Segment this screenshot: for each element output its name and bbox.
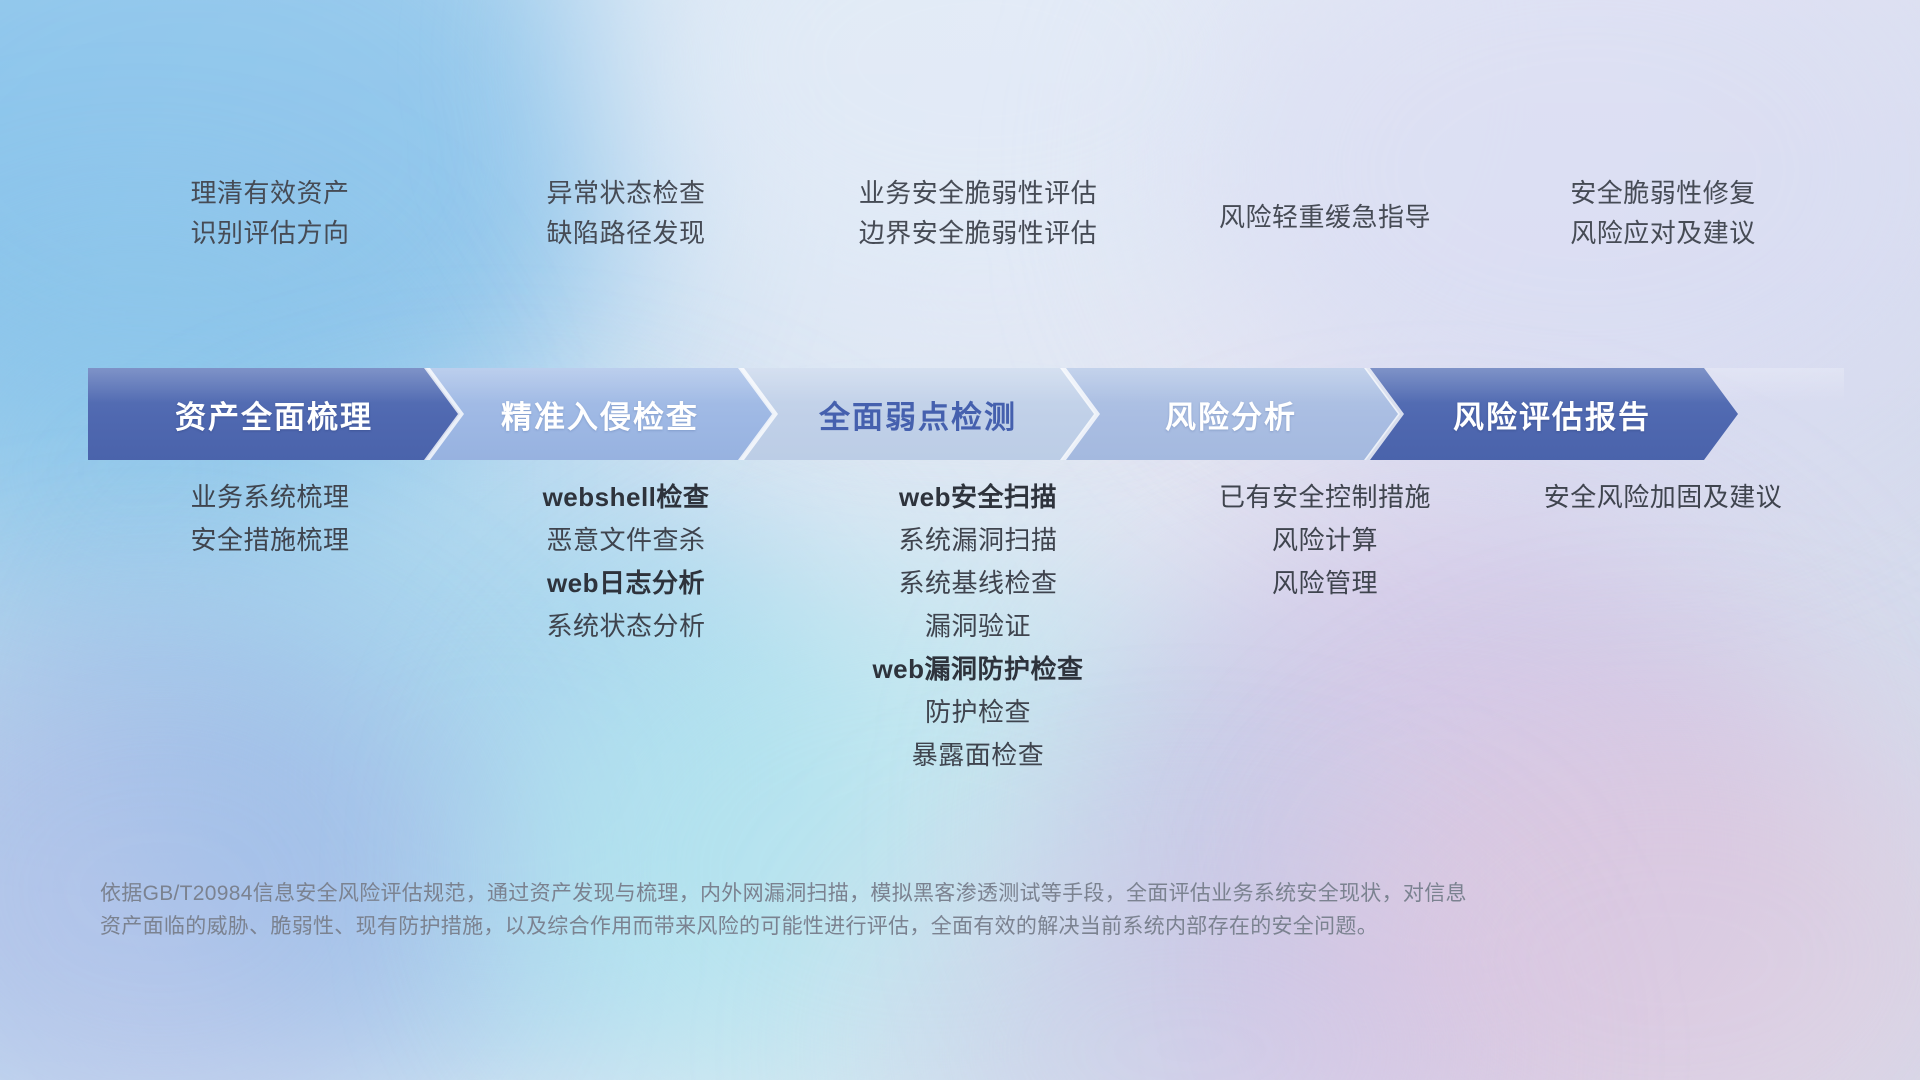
list-item: webshell检查 — [543, 484, 710, 510]
list-item: 防护检查 — [925, 699, 1031, 725]
process-step-label: 精准入侵检查 — [501, 392, 699, 437]
detail-list-5: 安全风险加固及建议 — [1494, 484, 1832, 510]
slide-canvas: 理清有效资产 识别评估方向 异常状态检查 缺陷路径发现 业务安全脆弱性评估 边界… — [0, 0, 1920, 1080]
detail-list-2: webshell检查 恶意文件查杀 web日志分析 系统状态分析 — [452, 484, 800, 639]
footer-description: 依据GB/T20984信息安全风险评估规范，通过资产发现与梳理，内外网漏洞扫描，… — [100, 878, 1640, 943]
list-item: 风险管理 — [1272, 570, 1378, 596]
top-caption-line: 识别评估方向 — [190, 220, 349, 246]
list-item: 恶意文件查杀 — [546, 527, 705, 553]
detail-lists-row: 业务系统梳理 安全措施梳理 webshell检查 恶意文件查杀 web日志分析 … — [88, 484, 1832, 768]
list-item: web日志分析 — [547, 570, 705, 596]
top-caption-group-5: 安全脆弱性修复 风险应对及建议 — [1494, 180, 1832, 246]
footer-line-1: 依据GB/T20984信息安全风险评估规范，通过资产发现与梳理，内外网漏洞扫描，… — [100, 878, 1640, 911]
list-item: 安全风险加固及建议 — [1544, 484, 1783, 510]
top-caption-group-4: 风险轻重缓急指导 — [1156, 180, 1494, 230]
process-step-label: 风险评估报告 — [1453, 392, 1651, 437]
footer-line-2: 资产面临的威胁、脆弱性、现有防护措施，以及综合作用而带来风险的可能性进行评估，全… — [100, 911, 1640, 944]
list-item: 系统基线检查 — [898, 570, 1057, 596]
detail-list-4: 已有安全控制措施 风险计算 风险管理 — [1156, 484, 1494, 596]
list-item: 安全措施梳理 — [190, 527, 349, 553]
process-step-5[interactable]: 风险评估报告 — [1366, 368, 1738, 460]
top-caption-line: 业务安全脆弱性评估 — [859, 180, 1098, 206]
process-step-label: 风险分析 — [1165, 392, 1297, 437]
top-caption-line: 异常状态检查 — [546, 180, 705, 206]
list-item: 系统漏洞扫描 — [898, 527, 1057, 553]
process-step-label: 资产全面梳理 — [175, 392, 373, 437]
top-caption-line: 缺陷路径发现 — [546, 220, 705, 246]
list-item: web漏洞防护检查 — [872, 656, 1083, 682]
process-step-1[interactable]: 资产全面梳理 — [88, 368, 460, 460]
process-step-2[interactable]: 精准入侵检查 — [426, 368, 774, 460]
top-caption-group-3: 业务安全脆弱性评估 边界安全脆弱性评估 — [800, 180, 1156, 246]
top-caption-group-2: 异常状态检查 缺陷路径发现 — [452, 180, 800, 246]
process-arrow-band: 资产全面梳理 精准入侵检查 全面弱点检测 风险分析 风险评估报告 — [88, 368, 1844, 460]
top-caption-line: 风险轻重缓急指导 — [1219, 204, 1431, 230]
list-item: web安全扫描 — [899, 484, 1057, 510]
list-item: 已有安全控制措施 — [1219, 484, 1431, 510]
list-item: 暴露面检查 — [912, 742, 1045, 768]
top-captions-row: 理清有效资产 识别评估方向 异常状态检查 缺陷路径发现 业务安全脆弱性评估 边界… — [88, 180, 1832, 246]
list-item: 系统状态分析 — [546, 613, 705, 639]
detail-list-3: web安全扫描 系统漏洞扫描 系统基线检查 漏洞验证 web漏洞防护检查 防护检… — [800, 484, 1156, 768]
process-step-3[interactable]: 全面弱点检测 — [740, 368, 1096, 460]
top-caption-group-1: 理清有效资产 识别评估方向 — [88, 180, 452, 246]
top-caption-line: 理清有效资产 — [190, 180, 349, 206]
process-step-4[interactable]: 风险分析 — [1062, 368, 1400, 460]
top-caption-line: 安全脆弱性修复 — [1570, 180, 1756, 206]
top-caption-line: 风险应对及建议 — [1570, 220, 1756, 246]
list-item: 业务系统梳理 — [190, 484, 349, 510]
list-item: 风险计算 — [1272, 527, 1378, 553]
top-caption-line: 边界安全脆弱性评估 — [859, 220, 1098, 246]
process-step-label: 全面弱点检测 — [819, 392, 1017, 437]
detail-list-1: 业务系统梳理 安全措施梳理 — [88, 484, 452, 553]
list-item: 漏洞验证 — [925, 613, 1031, 639]
